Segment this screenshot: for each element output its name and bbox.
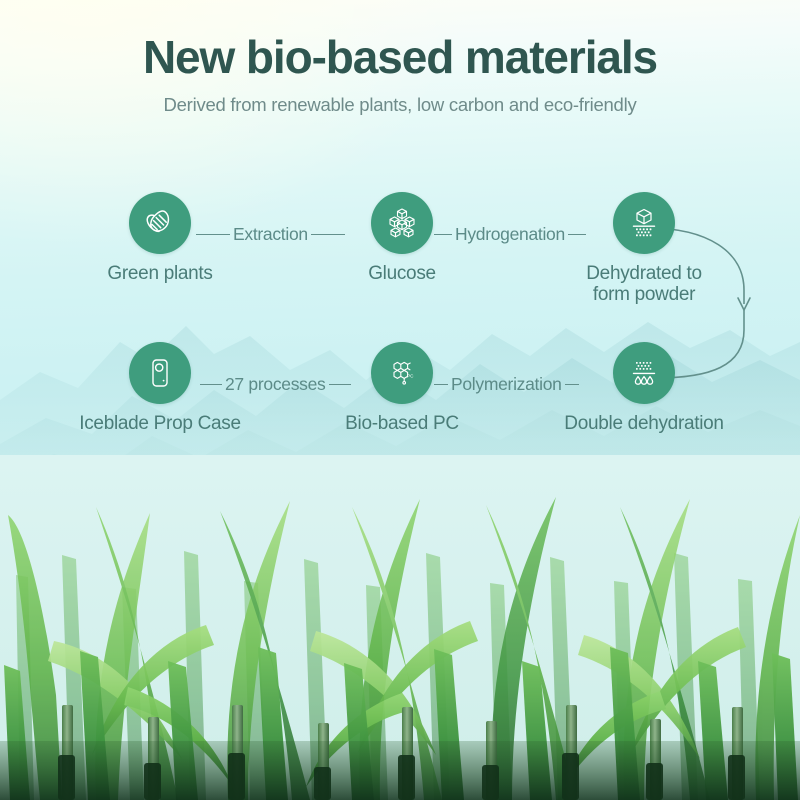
node-icon-circle — [613, 342, 675, 404]
corn-icon — [143, 206, 177, 240]
sugarcane-field-photo — [0, 455, 800, 800]
poster-canvas: New bio-based materials Derived from ren… — [0, 0, 800, 800]
flow-node-double-dehydration[interactable]: Double dehydration — [564, 342, 724, 434]
node-icon-circle — [613, 192, 675, 254]
node-icon-circle — [371, 192, 433, 254]
flow-node-glucose[interactable]: Glucose — [322, 192, 482, 284]
flow-node-dehydrated-powder[interactable]: Dehydrated to form powder — [564, 192, 724, 306]
molecule-cubes-icon — [385, 206, 419, 240]
process-flow-diagram: Extraction Hydrogenation 27 processes Po… — [0, 0, 800, 470]
powder-droplets-icon — [627, 356, 661, 390]
node-icon-circle — [129, 192, 191, 254]
flow-node-bio-based-pc[interactable]: PC Bio-based PC — [322, 342, 482, 434]
pc-icon-label: PC — [407, 374, 414, 379]
sugarcane-illustration — [0, 455, 800, 800]
benzene-rings-pc-icon: PC — [385, 356, 419, 390]
node-icon-circle — [129, 342, 191, 404]
flow-node-label: Glucose — [322, 263, 482, 284]
flow-node-iceblade-case[interactable]: Iceblade Prop Case — [80, 342, 240, 434]
flow-node-label: Double dehydration — [539, 413, 749, 434]
cube-powder-icon — [627, 206, 661, 240]
node-icon-circle: PC — [371, 342, 433, 404]
flow-node-label: Green plants — [80, 263, 240, 284]
flow-node-label: Dehydrated to form powder — [539, 263, 749, 306]
connector-label: Extraction — [230, 224, 311, 245]
phone-case-icon — [143, 356, 177, 390]
flow-node-label: Bio-based PC — [322, 413, 482, 434]
flow-node-green-plants[interactable]: Green plants — [80, 192, 240, 284]
flow-node-label: Iceblade Prop Case — [55, 413, 265, 434]
